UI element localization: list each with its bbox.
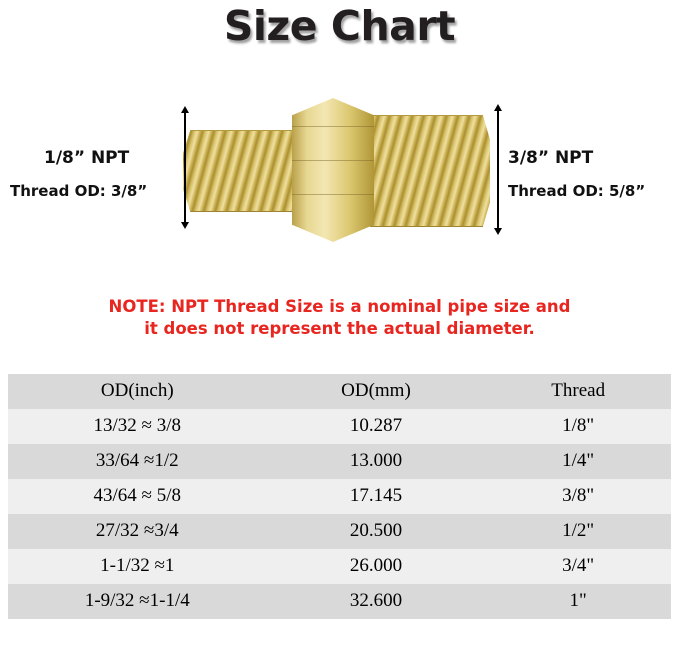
table-row: 1-1/32 ≈1 26.000 3/4" [8, 549, 671, 584]
cell-od-inch: 1-1/32 ≈1 [8, 549, 267, 584]
hex-body [292, 98, 374, 242]
left-thread-section [183, 130, 305, 212]
cell-thread: 1" [485, 584, 671, 619]
note-text: NOTE: NPT Thread Size is a nominal pipe … [0, 296, 679, 340]
table-row: 33/64 ≈1/2 13.000 1/4" [8, 444, 671, 479]
brass-nipple-illustration [180, 90, 490, 250]
table-header-row: OD(inch) OD(mm) Thread [8, 374, 671, 409]
table-row: 27/32 ≈3/4 20.500 1/2" [8, 514, 671, 549]
column-header-od-mm: OD(mm) [267, 374, 486, 409]
right-dimension-line [497, 110, 499, 228]
table-row: 1-9/32 ≈1-1/4 32.600 1" [8, 584, 671, 619]
note-line-2: it does not represent the actual diamete… [0, 318, 679, 340]
column-header-thread: Thread [485, 374, 671, 409]
cell-thread: 1/2" [485, 514, 671, 549]
right-dimension-arrow-top [494, 104, 502, 111]
right-thread-section [370, 115, 490, 227]
right-npt-label: 3/8” NPT [508, 148, 593, 168]
cell-od-mm: 13.000 [267, 444, 486, 479]
cell-thread: 3/4" [485, 549, 671, 584]
left-thread-od-label: Thread OD: 3/8” [10, 182, 147, 200]
left-dimension-line [184, 112, 186, 222]
left-dimension-arrow-bottom [181, 222, 189, 229]
right-dimension-arrow-bottom [494, 228, 502, 235]
cell-od-mm: 26.000 [267, 549, 486, 584]
cell-od-inch: 13/32 ≈ 3/8 [8, 409, 267, 444]
cell-od-inch: 27/32 ≈3/4 [8, 514, 267, 549]
cell-thread: 1/4" [485, 444, 671, 479]
left-npt-label: 1/8” NPT [44, 148, 129, 168]
cell-od-mm: 32.600 [267, 584, 486, 619]
page-title: Size Chart [0, 2, 679, 50]
product-diagram: 1/8” NPT Thread OD: 3/8” 3/8” NPT Thread… [0, 70, 679, 280]
table-row: 43/64 ≈ 5/8 17.145 3/8" [8, 479, 671, 514]
right-thread-od-label: Thread OD: 5/8” [508, 182, 645, 200]
column-header-od-inch: OD(inch) [8, 374, 267, 409]
table-row: 13/32 ≈ 3/8 10.287 1/8" [8, 409, 671, 444]
cell-od-mm: 20.500 [267, 514, 486, 549]
cell-thread: 1/8" [485, 409, 671, 444]
cell-od-mm: 17.145 [267, 479, 486, 514]
cell-thread: 3/8" [485, 479, 671, 514]
cell-od-inch: 1-9/32 ≈1-1/4 [8, 584, 267, 619]
cell-od-inch: 33/64 ≈1/2 [8, 444, 267, 479]
cell-od-inch: 43/64 ≈ 5/8 [8, 479, 267, 514]
cell-od-mm: 10.287 [267, 409, 486, 444]
left-dimension-arrow-top [181, 106, 189, 113]
note-line-1: NOTE: NPT Thread Size is a nominal pipe … [0, 296, 679, 318]
size-table: OD(inch) OD(mm) Thread 13/32 ≈ 3/8 10.28… [8, 374, 671, 619]
